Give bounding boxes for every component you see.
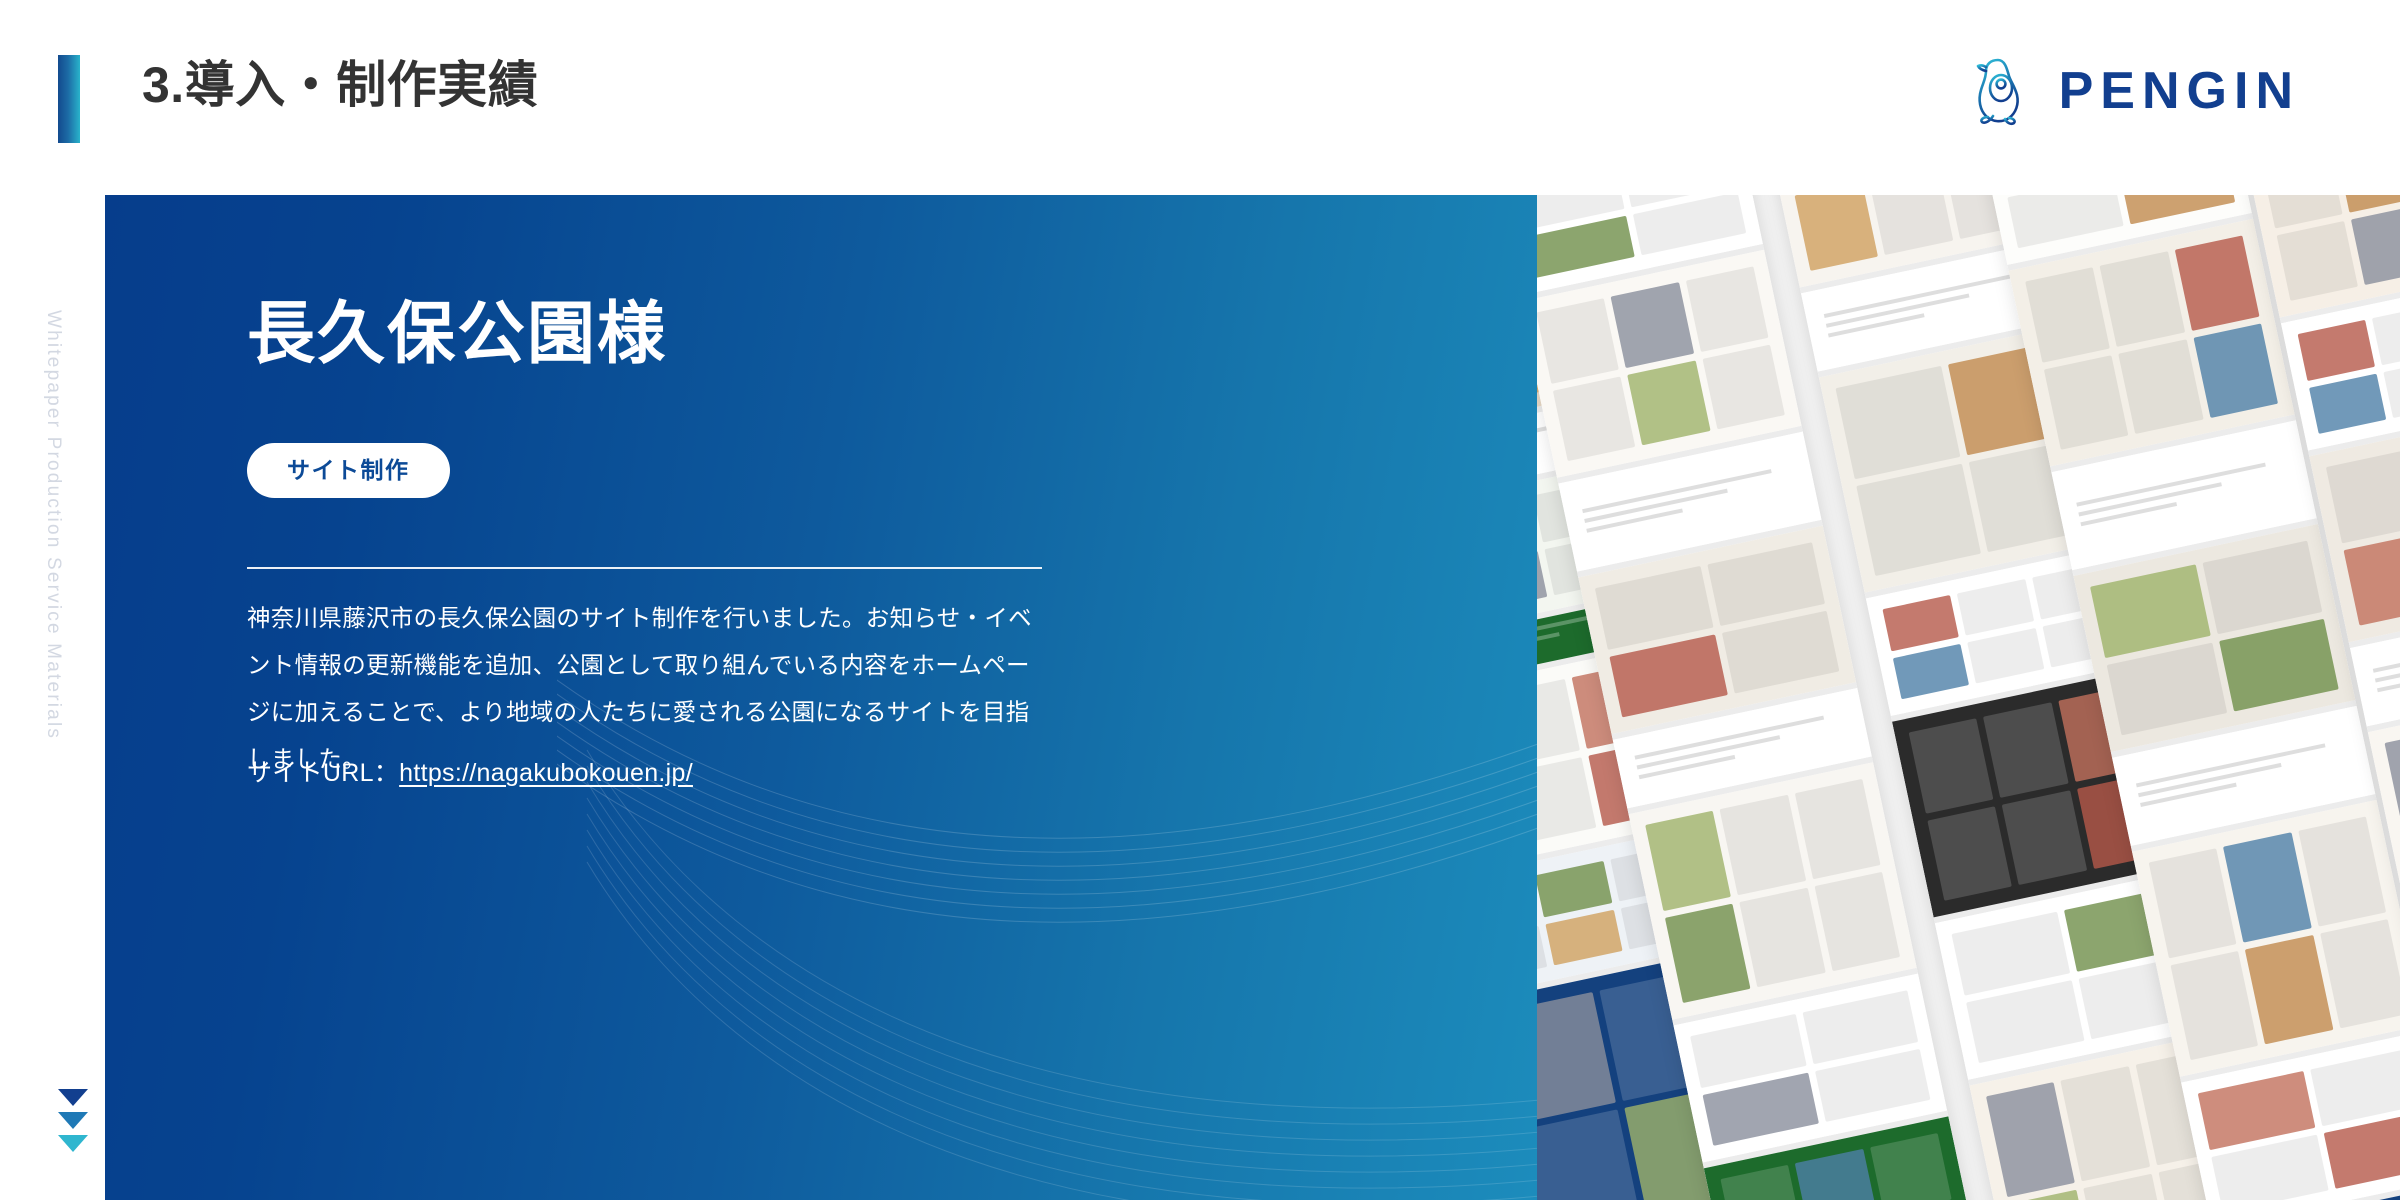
page-header: 3.導入・制作実績 PENGIN — [0, 0, 2400, 195]
mockup-thumbnail — [2174, 235, 2259, 330]
title-accent-bar — [58, 55, 80, 143]
mockup-thumbnail — [1720, 795, 1806, 895]
mockup-thumbnail — [2336, 195, 2400, 212]
mockup-thumbnail — [1835, 366, 1959, 479]
mockup-thumbnail — [1983, 702, 2068, 797]
logo-wordmark: PENGIN — [2059, 65, 2300, 117]
mockup-thumbnail — [2384, 729, 2400, 844]
side-vertical-label-text: Whitepaper Production Service Materials — [42, 310, 64, 740]
mockup-thumbnail — [2118, 339, 2203, 434]
mockup-thumbnail — [1537, 215, 1634, 279]
mockup-thumbnail — [1702, 344, 1785, 429]
case-study-title: 長久保公園様 — [247, 300, 667, 368]
mockup-thumbnail — [1893, 643, 1970, 699]
mockup-thumbnail — [1795, 1149, 1877, 1200]
side-vertical-label: Whitepaper Production Service Materials — [38, 310, 68, 870]
website-mockups-collage — [1537, 195, 2400, 1200]
mockup-text-bar — [2076, 463, 2265, 507]
mockup-thumbnail — [2061, 1066, 2150, 1181]
mockup-thumbnail — [2044, 355, 2129, 450]
page-title: 3.導入・制作実績 — [142, 60, 538, 110]
mockup-thumbnail — [1611, 282, 1694, 367]
scroll-indicator-triangles — [58, 1089, 88, 1158]
site-url-line: サイトURL：https://nagakubokouen.jp/ — [247, 753, 693, 789]
mockup-thumbnail — [1720, 1165, 1802, 1200]
mockup-thumbnail — [2119, 195, 2235, 224]
mockup-thumbnail — [2100, 251, 2185, 346]
mockup-thumbnail — [2320, 919, 2400, 1029]
mockup-thumbnail — [1665, 903, 1751, 1003]
mockup-thumbnail — [2384, 357, 2400, 418]
mockup-thumbnail — [1537, 925, 1548, 981]
mockup-thumbnail — [1609, 634, 1727, 717]
mockup-thumbnail — [2276, 220, 2358, 300]
mockup-thumbnail — [2149, 848, 2237, 958]
site-url-link[interactable]: https://nagakubokouen.jp/ — [399, 759, 693, 787]
mockup-thumbnail — [1553, 376, 1636, 461]
mockup-thumbnail — [2223, 832, 2311, 942]
mockup-thumbnail — [2351, 205, 2400, 285]
mockup-thumbnail — [2193, 323, 2278, 418]
mockup-thumbnail — [2170, 950, 2258, 1060]
mockup-thumbnail — [1870, 1133, 1952, 1200]
mockup-thumbnail — [1882, 595, 1959, 651]
mockup-thumbnail — [2326, 445, 2400, 543]
mockup-thumbnail — [2002, 790, 2087, 885]
mockup-thumbnail — [1856, 463, 1980, 576]
mockup-thumbnail — [1537, 1109, 1640, 1200]
mockup-thumbnail — [1739, 887, 1825, 987]
mockup-thumbnail — [1537, 298, 1619, 383]
mockup-thumbnail — [2298, 816, 2386, 926]
mockup-thumbnail — [1927, 806, 2012, 901]
mockup-thumbnail — [2007, 195, 2123, 248]
mockup-thumbnail — [1794, 195, 1878, 271]
mockup-thumbnail — [1794, 779, 1880, 879]
mockup-thumbnail — [1957, 579, 2034, 635]
mockup-thumbnail — [1707, 542, 1825, 625]
mockup-thumbnail — [1595, 566, 1713, 649]
mockup-thumbnail — [1966, 980, 2084, 1063]
service-type-badge: サイト制作 — [247, 443, 450, 498]
triangle-down-icon-1 — [58, 1089, 88, 1106]
mockup-thumbnail — [2245, 935, 2333, 1045]
triangle-down-icon-3 — [58, 1135, 88, 1152]
case-study-panel: 長久保公園様 サイト制作 神奈川県藤沢市の長久保公園のサイト制作を行いました。お… — [105, 195, 1537, 1200]
mockup-thumbnail — [2310, 1047, 2400, 1126]
mockup-thumbnail — [1951, 912, 2069, 995]
mockup-thumbnail — [2309, 373, 2387, 434]
section-divider — [247, 567, 1042, 569]
mockup-thumbnail — [1537, 861, 1612, 917]
mockup-thumbnail — [2343, 527, 2400, 625]
mockup-text-bar — [2136, 743, 2325, 787]
mockup-thumbnail — [1537, 679, 1580, 764]
mockup-thumbnail — [2107, 642, 2227, 735]
mockup-thumbnail — [1537, 757, 1596, 842]
mockup-thumbnail — [1909, 718, 1994, 813]
mockup-thumbnail — [1546, 909, 1623, 965]
mockup-thumbnail — [1537, 550, 1547, 611]
penguin-logo-icon — [1971, 52, 2033, 130]
mockup-thumbnail — [2025, 267, 2110, 362]
mockup-thumbnail — [1627, 360, 1710, 445]
mockup-thumbnail — [1632, 195, 1746, 255]
mockup-thumbnail — [1721, 610, 1839, 693]
mockup-thumbnail — [2372, 304, 2400, 365]
mockup-text-bar — [1582, 469, 1771, 513]
mockup-thumbnail — [2090, 564, 2210, 657]
triangle-down-icon-2 — [58, 1112, 88, 1129]
brand-logo: PENGIN — [1971, 52, 2300, 130]
mockup-thumbnail — [2202, 541, 2322, 634]
mockup-thumbnail — [1814, 871, 1900, 971]
mockup-thumbnail — [1869, 195, 1953, 255]
mockup-thumbnail — [1967, 627, 2044, 683]
site-url-label: サイトURL： — [247, 759, 399, 787]
mockup-thumbnail — [1686, 266, 1769, 351]
mockup-thumbnail — [1986, 1082, 2075, 1197]
mockup-thumbnail — [1645, 811, 1731, 911]
mockup-thumbnail — [2298, 320, 2376, 381]
mockup-thumbnail — [2219, 618, 2339, 711]
